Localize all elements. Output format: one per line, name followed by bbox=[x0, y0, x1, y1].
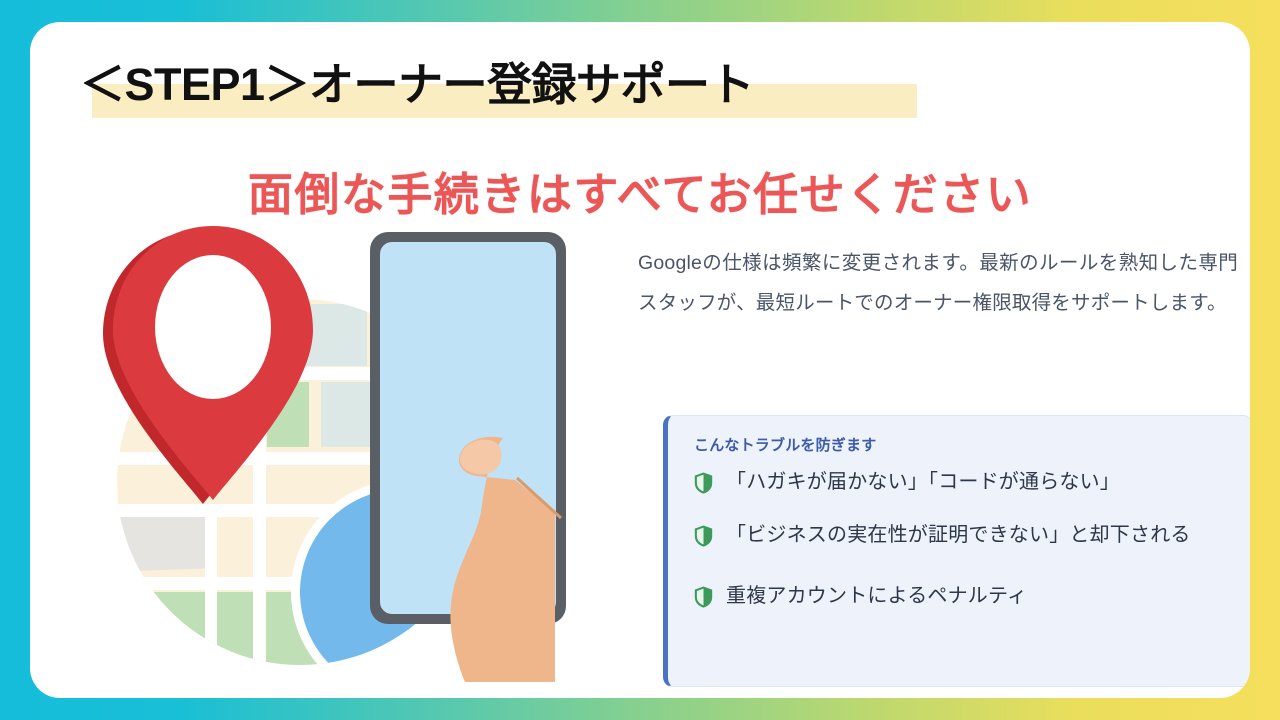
body-paragraph: Googleの仕様は頻繁に変更されます。最新のルールを熟知した専門スタッフが、最… bbox=[638, 244, 1238, 324]
trouble-prevention-box: こんなトラブルを防ぎます 「ハガキが届かない」「コードが通らない」 bbox=[663, 415, 1250, 687]
list-item-label: 重複アカウントによるペナルティ bbox=[726, 583, 1027, 610]
page-title: ＜STEP1＞オーナー登録サポート bbox=[80, 50, 754, 120]
step-title-block: ＜STEP1＞オーナー登録サポート bbox=[80, 50, 754, 120]
list-item-label: 「ハガキが届かない」「コードが通らない」 bbox=[726, 469, 1120, 496]
main-card: ＜STEP1＞オーナー登録サポート 面倒な手続きはすべてお任せください bbox=[30, 22, 1250, 698]
list-item-label: 「ビジネスの実在性が証明できない」と却下される bbox=[726, 522, 1191, 549]
info-box-heading: こんなトラブルを防ぎます bbox=[694, 434, 1228, 455]
list-item: 重複アカウントによるペナルティ bbox=[694, 583, 1228, 610]
shield-icon bbox=[694, 525, 713, 547]
map-pin-phone-hand-illustration bbox=[85, 212, 645, 682]
description-block: Googleの仕様は頻繁に変更されます。最新のルールを熟知した専門スタッフが、最… bbox=[638, 244, 1238, 324]
list-item: 「ハガキが届かない」「コードが通らない」 bbox=[694, 469, 1228, 496]
trouble-list: 「ハガキが届かない」「コードが通らない」 「ビジネスの実在性が証明できない」と却… bbox=[694, 469, 1228, 610]
shield-icon bbox=[694, 472, 713, 494]
shield-icon bbox=[694, 586, 713, 608]
list-item: 「ビジネスの実在性が証明できない」と却下される bbox=[694, 522, 1228, 549]
